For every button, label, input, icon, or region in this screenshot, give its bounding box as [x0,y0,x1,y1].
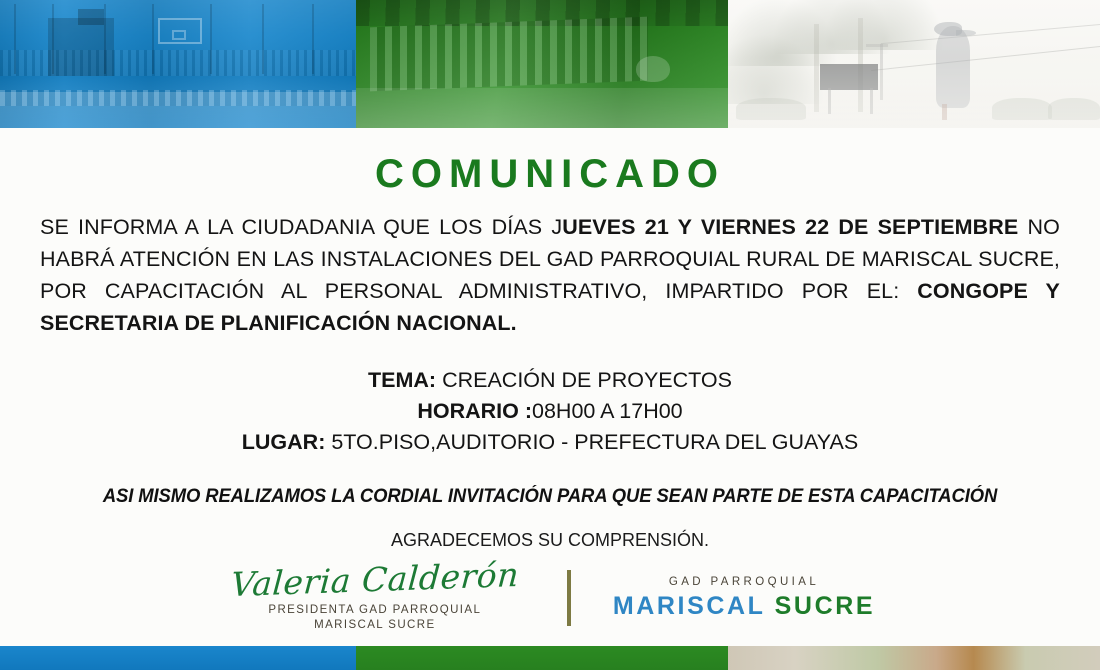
detail-value-tema: CREACIÓN DE PROYECTOS [436,368,732,392]
detail-row-tema: TEMA: CREACIÓN DE PROYECTOS [38,365,1062,396]
court-ground-shape [0,92,356,128]
gad-logo: GAD PARROQUIAL MARISCAL SUCRE [613,577,875,619]
logo-title: MARISCAL SUCRE [613,594,875,619]
paragraph-part-1: SE INFORMA A LA CIUDADANIA QUE LOS DÍAS … [40,215,562,239]
banner-bottom [0,646,1100,670]
detail-row-horario: HORARIO :08H00 A 17H00 [38,396,1062,427]
mural-wall-shape [370,17,648,92]
banner-bottom-panel-sports-court [0,646,356,670]
logo-title-mariscal: MARISCAL [613,592,765,620]
pole-shape [210,4,212,74]
paragraph-bold-dates: UEVES 21 Y VIERNES 22 DE SEPTIEMBRE [562,215,1018,239]
bush-shape [636,56,670,82]
photo-haze-overlay [728,0,1100,128]
details-block: TEMA: CREACIÓN DE PROYECTOS HORARIO :08H… [38,365,1062,458]
signature-block: Valeria Calderón PRESIDENTA GAD PARROQUI… [225,563,525,633]
logo-divider [567,570,571,626]
pole-shape [104,4,106,74]
poster-content: COMUNICADO SE INFORMA A LA CIUDADANIA QU… [0,128,1100,646]
comunicado-poster: COMUNICADO SE INFORMA A LA CIUDADANIA QU… [0,0,1100,670]
banner-bottom-panel-mural-wall [356,646,728,670]
detail-label-tema: TEMA: [368,368,436,392]
signature-row: Valeria Calderón PRESIDENTA GAD PARROQUI… [38,563,1062,633]
logo-subtitle: GAD PARROQUIAL [613,577,875,589]
banner-bottom-panel-community [728,646,1100,670]
invitation-text: ASI MISMO REALIZAMOS LA CORDIAL INVITACI… [53,486,1046,508]
banner-panel-mural-wall [356,0,728,128]
announcement-paragraph: SE INFORMA A LA CIUDADANIA QUE LOS DÍAS … [38,211,1062,339]
signature-role-line-1: PRESIDENTA GAD PARROQUIAL [225,603,525,618]
pole-shape [262,4,264,74]
detail-value-lugar: 5TO.PISO,AUDITORIO - PREFECTURA DEL GUAY… [325,430,858,454]
pole-shape [312,4,314,74]
detail-label-horario: HORARIO : [417,399,532,423]
signature-role-line-2: MARISCAL SUCRE [225,618,525,633]
signature-name: Valeria Calderón [224,558,526,603]
road-shape [356,88,728,128]
signature-role: PRESIDENTA GAD PARROQUIAL MARISCAL SUCRE [225,603,525,633]
pole-shape [152,4,154,74]
building-top-shape [78,9,104,25]
banner-top [0,0,1100,128]
detail-value-horario: 08H00 A 17H00 [532,399,683,423]
detail-row-lugar: LUGAR: 5TO.PISO,AUDITORIO - PREFECTURA D… [38,427,1062,458]
thanks-text: AGRADECEMOS SU COMPRENSIÓN. [38,530,1062,551]
page-title: COMUNICADO [38,152,1062,197]
basketball-hoop-shape [172,30,186,40]
banner-panel-sports-court [0,0,356,128]
banner-panel-bird-statue [728,0,1100,128]
logo-title-sucre: SUCRE [775,592,876,620]
detail-label-lugar: LUGAR: [242,430,326,454]
pole-shape [14,4,16,74]
pole-shape [52,4,54,74]
